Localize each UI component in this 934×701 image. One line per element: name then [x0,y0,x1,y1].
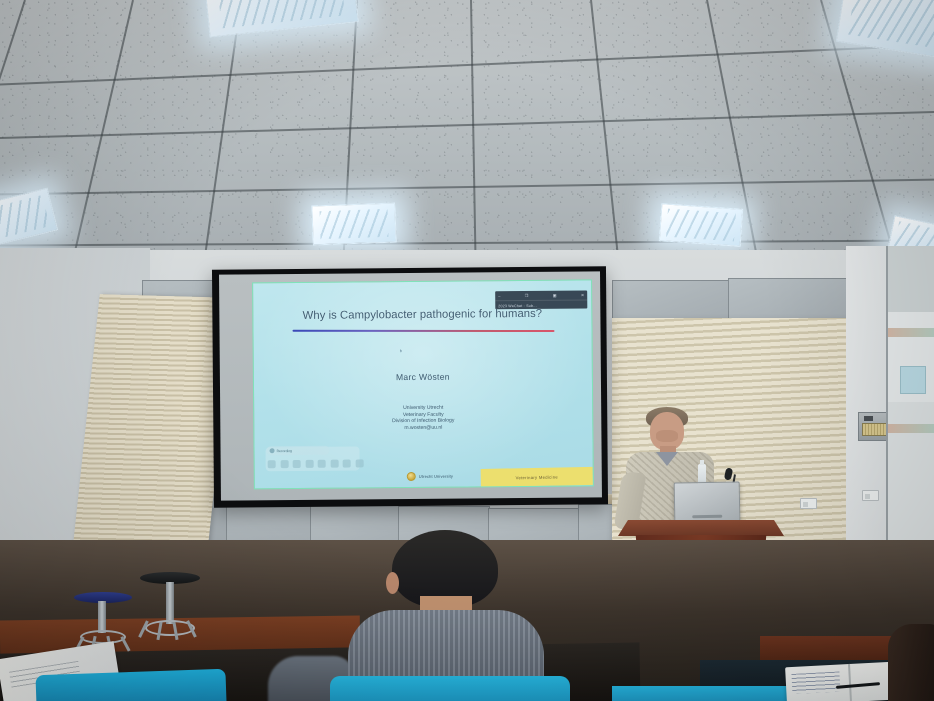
microphone-icon[interactable] [268,460,276,468]
video-icon[interactable] [318,460,326,468]
chair-row-left[interactable] [35,669,226,701]
faculty-band: Veterinary Medicine [481,467,593,487]
slide-affiliation: University Utrecht Veterinary Faculty Di… [254,403,592,432]
audience-member-right [888,624,934,701]
presenter-face-shadow [656,430,678,442]
camera-icon[interactable] [280,460,288,468]
audience-hair [888,624,934,701]
slide-author: Marc Wösten [254,370,592,383]
record-dot-icon [270,448,275,453]
reaction-icon[interactable] [343,460,351,468]
corridor-window-pane [900,366,926,394]
restore-icon[interactable]: ▣ [553,292,557,300]
window-controls[interactable]: – ❐ ▣ ✕ 2023 WeChat - Sub... [495,290,587,309]
utrecht-seal-icon [407,472,416,481]
wall-socket[interactable] [862,490,879,501]
ceiling-light-panel [311,203,396,246]
meeting-toolbar-icons[interactable] [268,459,364,468]
projection-screen-surface: – ❐ ▣ ✕ 2023 WeChat - Sub... Why is Camp… [219,271,602,500]
microphone-icon[interactable] [724,467,733,480]
window-titlebar [337,271,449,273]
podium-top [618,520,784,536]
acoustic-block [728,278,850,322]
audience-ear [386,572,399,594]
university-logo: Utrecht University [407,472,453,481]
slide-stray-mark: b [400,348,402,353]
slide-divider-rule [293,330,555,332]
maximize-icon[interactable]: ❐ [525,292,529,300]
close-icon[interactable]: ✕ [581,291,584,299]
chat-icon[interactable] [330,460,338,468]
university-logo-label: Utrecht University [419,474,453,479]
recording-label: Recording [277,449,293,453]
ceiling-light-panel [659,203,743,247]
faculty-band-label: Veterinary Medicine [515,474,558,480]
presentation-slide[interactable]: – ❐ ▣ ✕ 2023 WeChat - Sub... Why is Camp… [253,280,593,488]
more-icon[interactable] [355,459,363,467]
slide-title: Why is Campylobacter pathogenic for huma… [253,307,591,322]
chair-row-center[interactable] [330,676,570,701]
recording-indicator[interactable]: Recording [267,446,330,456]
corridor-wall-stripe [888,328,934,337]
lecture-hall-photo: – ❐ ▣ ✕ 2023 WeChat - Sub... Why is Camp… [0,0,934,701]
slatted-wood-panel-left [73,294,235,554]
corridor-wall-stripe [888,424,934,433]
laptop[interactable] [674,481,741,522]
ceiling-grid [0,0,934,272]
ceiling [0,0,934,272]
minimize-icon[interactable]: – [498,292,500,300]
wall-socket[interactable] [800,498,817,509]
stool-black[interactable] [140,572,200,652]
share-screen-icon[interactable] [305,460,313,468]
stool-post [98,601,106,633]
pen-icon[interactable] [293,460,301,468]
projection-screen[interactable]: – ❐ ▣ ✕ 2023 WeChat - Sub... Why is Camp… [212,266,608,507]
corridor-doorway [886,246,934,546]
stool-post [166,582,174,624]
chair-row-right[interactable] [612,686,792,701]
